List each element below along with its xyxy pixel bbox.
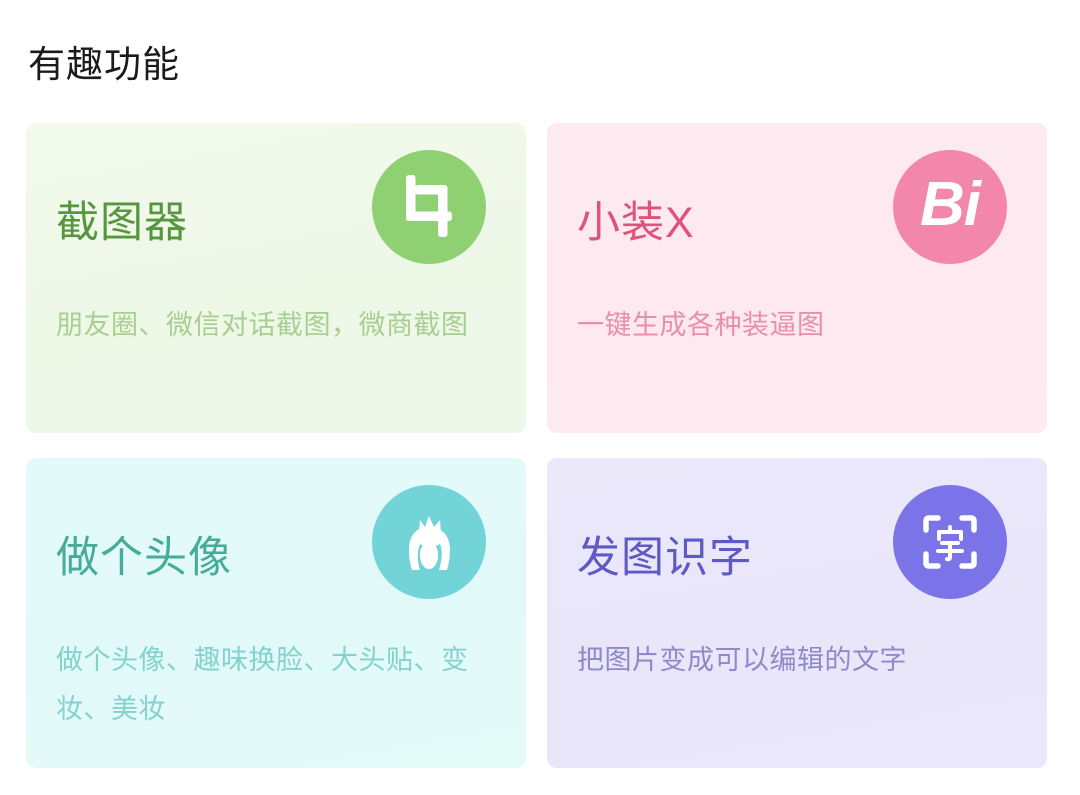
feature-card-subtitle: 一键生成各种装逼图 (577, 301, 997, 350)
bi-letter-icon-label: Bi (920, 174, 980, 236)
crop-icon (372, 150, 486, 264)
feature-card-subtitle: 把图片变成可以编辑的文字 (577, 636, 997, 685)
feature-card-subtitle: 做个头像、趣味换脸、大头贴、变妆、美妆 (56, 636, 476, 734)
feature-card-xiaozhuang-x[interactable]: 小装X 一键生成各种装逼图 Bi (547, 123, 1047, 433)
feature-card-title: 截图器 (56, 197, 188, 249)
feature-card-title: 做个头像 (56, 532, 232, 584)
feature-card-grid: 截图器 朋友圈、微信对话截图，微商截图 小装X 一键生成各种装逼图 Bi 做个头… (26, 123, 1047, 768)
scan-text-icon (893, 485, 1007, 599)
feature-card-image-to-text[interactable]: 发图识字 把图片变成可以编辑的文字 (547, 458, 1047, 768)
feature-card-title: 发图识字 (577, 532, 753, 584)
feature-card-subtitle: 朋友圈、微信对话截图，微商截图 (56, 301, 476, 350)
page-title: 有趣功能 (28, 41, 180, 89)
feature-card-title: 小装X (577, 197, 695, 249)
bi-letter-icon: Bi (893, 150, 1007, 264)
feature-card-screenshot-tool[interactable]: 截图器 朋友圈、微信对话截图，微商截图 (26, 123, 526, 433)
feature-card-make-avatar[interactable]: 做个头像 做个头像、趣味换脸、大头贴、变妆、美妆 (26, 458, 526, 768)
avatar-crown-icon (372, 485, 486, 599)
